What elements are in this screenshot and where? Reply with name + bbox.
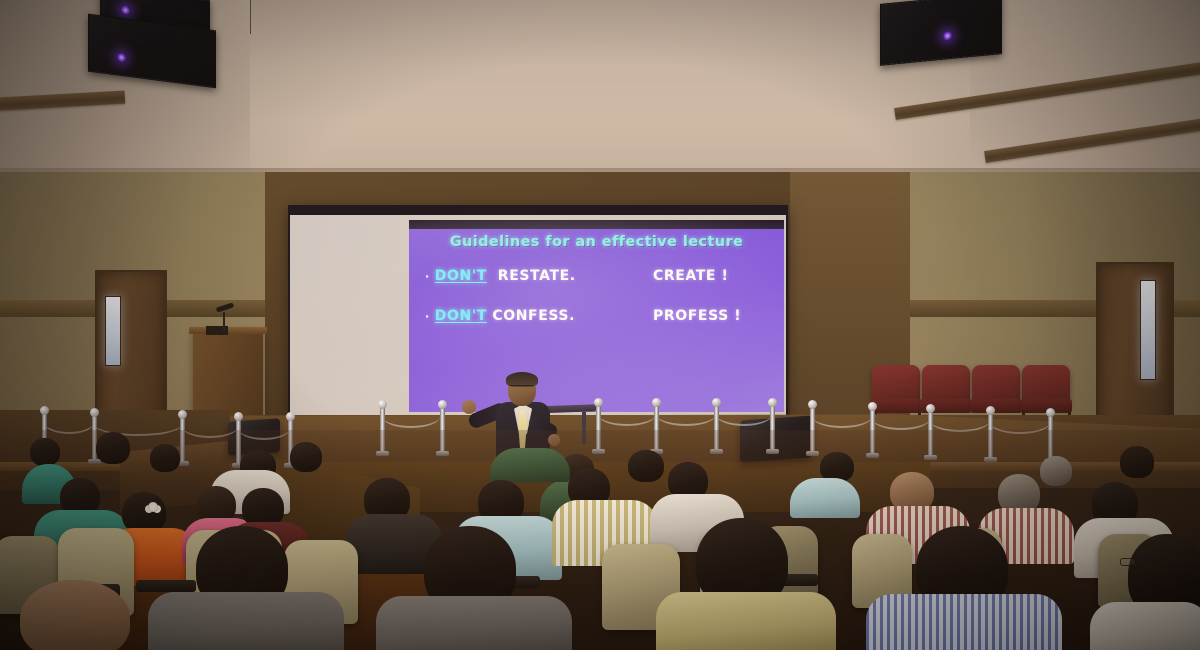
slide-emphasis-2: DON'T	[435, 308, 487, 324]
audience-head	[290, 442, 322, 472]
hair-flower	[148, 502, 158, 512]
audience-head	[628, 450, 664, 482]
audience-area	[0, 430, 1200, 650]
slide-right-1: CREATE !	[653, 268, 729, 284]
audience-head	[30, 438, 60, 466]
lectern-top	[189, 327, 267, 334]
projected-slide: Guidelines for an effective lecture · DO…	[409, 220, 784, 412]
stage-chair-seat	[970, 399, 1022, 413]
audience-shoulders-front	[148, 592, 344, 650]
audience-shoulders-front	[376, 596, 572, 650]
slide-middle-2: CONFESS.	[487, 308, 575, 324]
presenter-left-hand	[462, 400, 476, 414]
audience-head-front	[20, 580, 130, 650]
slide-bullet-2: · DON'T CONFESS. PROFESS !	[425, 308, 770, 324]
slide-right-2: PROFESS !	[653, 308, 741, 324]
stage-chair-seat	[870, 399, 922, 413]
speaker-hanging-wire	[250, 0, 251, 34]
glasses-icon	[1120, 558, 1136, 566]
audience-head	[1120, 446, 1154, 478]
audience-shoulders	[790, 478, 860, 518]
door-right-glass-panel	[1140, 280, 1156, 380]
audience-shoulders-front	[656, 592, 836, 650]
microphone-stem	[223, 312, 225, 332]
audience-head	[1040, 456, 1072, 486]
bullet-glyph-1: ·	[425, 271, 430, 282]
audience-shoulders-front	[1090, 602, 1200, 650]
bullet-glyph-2: ·	[425, 311, 430, 322]
speaker-led-icon	[117, 52, 126, 62]
slide-emphasis-1: DON'T	[435, 268, 487, 284]
slide-middle-1: RESTATE.	[487, 268, 576, 284]
slide-top-bar	[409, 220, 784, 229]
glasses-icon	[509, 385, 534, 390]
door-left-glass-panel	[105, 296, 121, 366]
audience-head	[150, 444, 180, 472]
auditorium-scene: Guidelines for an effective lecture · DO…	[0, 0, 1200, 650]
seat-armrest	[136, 580, 196, 592]
audience-shoulders-front	[866, 594, 1062, 650]
slide-bullet-1: · DON'T RESTATE. CREATE !	[425, 268, 770, 284]
speaker-led-icon	[943, 31, 952, 41]
speaker-led-icon	[121, 5, 130, 15]
audience-shoulders	[490, 448, 570, 482]
slide-title: Guidelines for an effective lecture	[409, 234, 784, 250]
audience-head	[96, 432, 130, 464]
